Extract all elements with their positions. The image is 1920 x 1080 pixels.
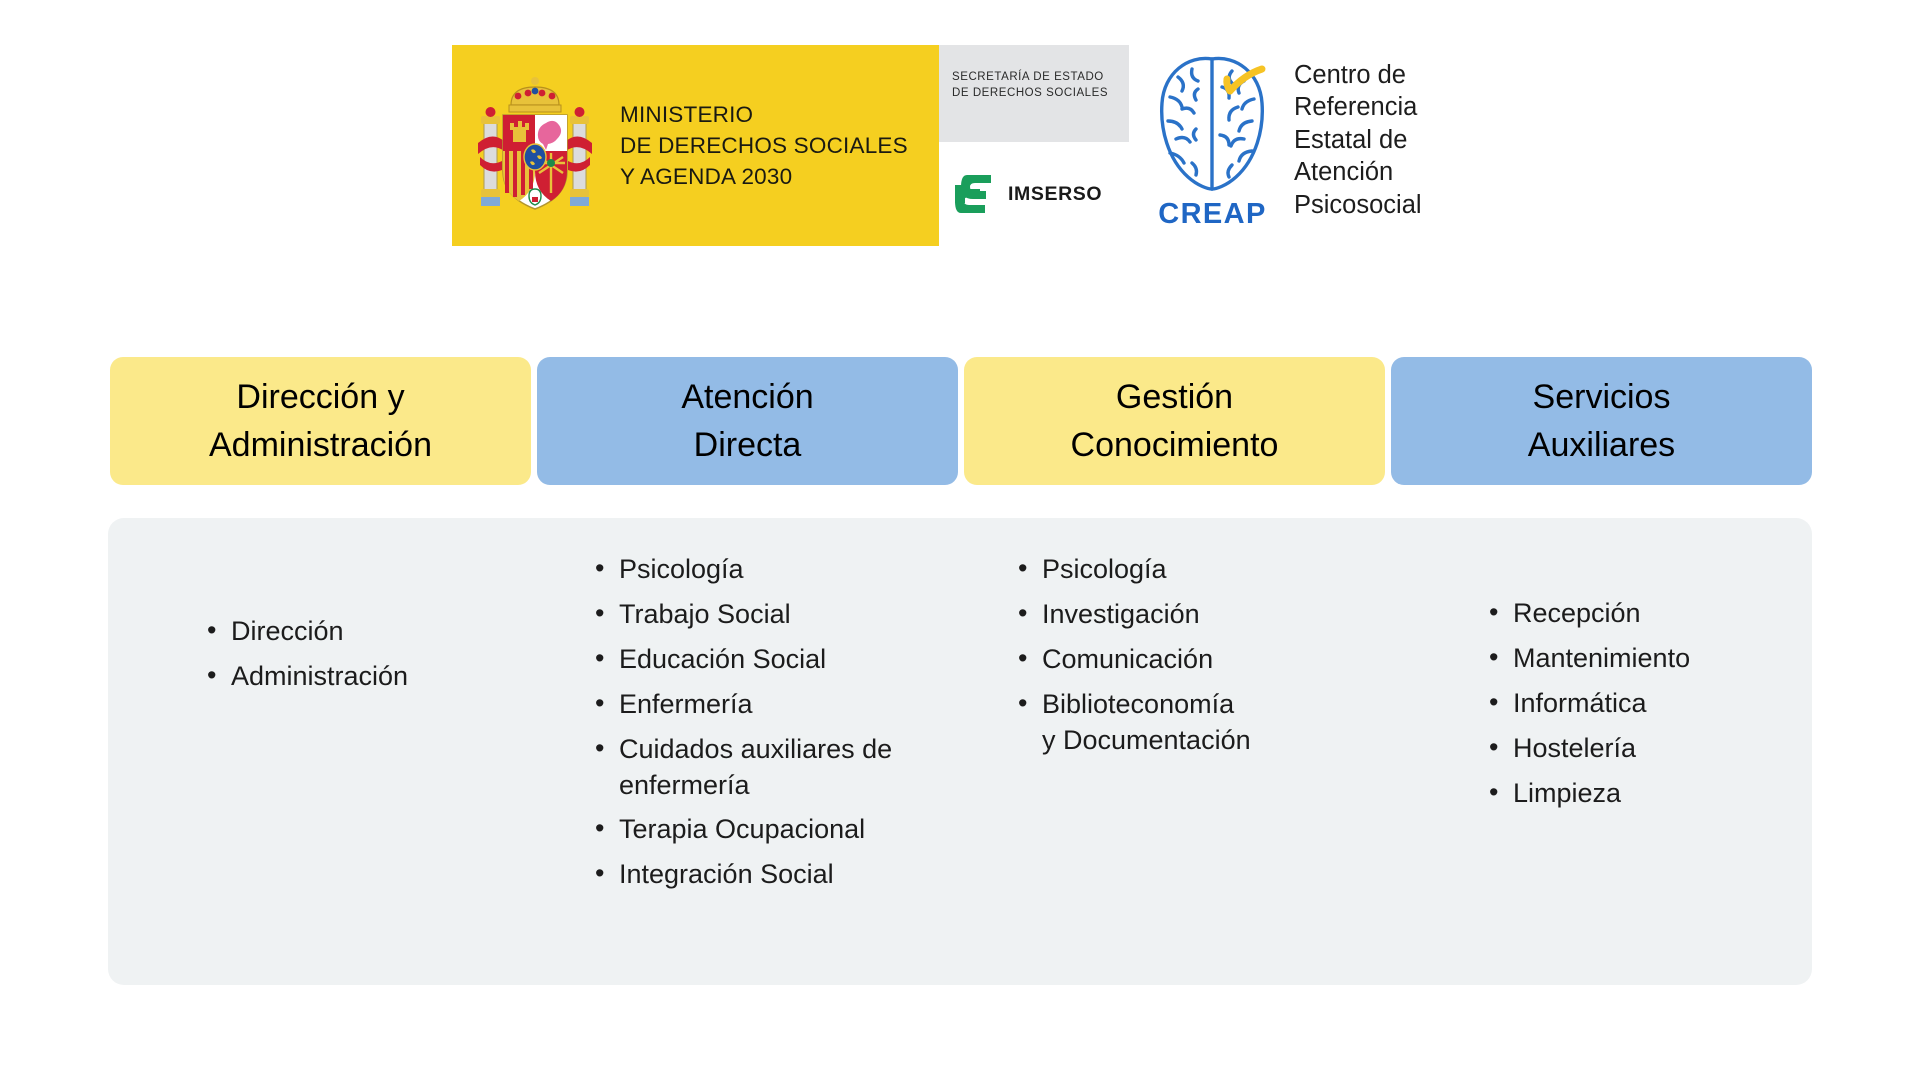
category-label-line-1: Gestión bbox=[1116, 373, 1233, 421]
list-item: Cuidados auxiliares de enfermería bbox=[592, 732, 892, 804]
category-header-row: Dirección y Administración Atención Dire… bbox=[110, 357, 1812, 485]
creap-brain-icon bbox=[1148, 47, 1278, 202]
spain-coat-of-arms-icon bbox=[476, 71, 594, 221]
category-box-direccion-administracion[interactable]: Dirección y Administración bbox=[110, 357, 531, 485]
column-gestion-conocimiento: Psicología Investigación Comunicación Bi… bbox=[960, 518, 1386, 985]
imserso-logo-icon bbox=[953, 173, 999, 215]
institutional-logo-strip: MINISTERIO DE DERECHOS SOCIALES Y AGENDA… bbox=[452, 45, 1422, 246]
creap-name-line-5: Psicosocial bbox=[1294, 189, 1422, 221]
category-label-line-1: Dirección y bbox=[236, 373, 404, 421]
slide-canvas: MINISTERIO DE DERECHOS SOCIALES Y AGENDA… bbox=[0, 0, 1920, 1080]
list-item: Psicología bbox=[592, 552, 892, 588]
creap-name-line-2: Referencia bbox=[1294, 91, 1422, 123]
secretaria-imserso-block: SECRETARÍA DE ESTADO DE DERECHOS SOCIALE… bbox=[939, 45, 1129, 246]
secretaria-line-1: SECRETARÍA DE ESTADO bbox=[952, 69, 1129, 85]
secretaria-line-2: DE DERECHOS SOCIALES bbox=[952, 85, 1129, 101]
list-item: Administración bbox=[204, 659, 408, 695]
column-direccion-administracion: Dirección Administración bbox=[108, 518, 534, 985]
category-label-line-2: Conocimiento bbox=[1071, 421, 1279, 469]
column-atencion-directa: Psicología Trabajo Social Educación Soci… bbox=[534, 518, 960, 985]
category-label-line-1: Servicios bbox=[1533, 373, 1671, 421]
secretaria-de-estado: SECRETARÍA DE ESTADO DE DERECHOS SOCIALE… bbox=[939, 45, 1129, 142]
ministry-line-2: DE DERECHOS SOCIALES bbox=[620, 130, 908, 161]
list-item: Terapia Ocupacional bbox=[592, 812, 892, 848]
list-direccion-administracion: Dirección Administración bbox=[204, 614, 408, 704]
list-item: Informática bbox=[1486, 686, 1690, 722]
list-item: Integración Social bbox=[592, 857, 892, 893]
creap-block: CREAP Centro de Referencia Estatal de At… bbox=[1129, 45, 1422, 246]
imserso-label: IMSERSO bbox=[1008, 183, 1102, 206]
ministry-line-1: MINISTERIO bbox=[620, 99, 908, 130]
list-item: Mantenimiento bbox=[1486, 641, 1690, 677]
list-item: Recepción bbox=[1486, 596, 1690, 632]
creap-name-line-3: Estatal de bbox=[1294, 124, 1422, 156]
list-item: Educación Social bbox=[592, 642, 892, 678]
category-box-servicios-auxiliares[interactable]: Servicios Auxiliares bbox=[1391, 357, 1812, 485]
category-box-atencion-directa[interactable]: Atención Directa bbox=[537, 357, 958, 485]
list-item: Trabajo Social bbox=[592, 597, 892, 633]
category-label-line-2: Administración bbox=[209, 421, 432, 469]
list-item: Psicología bbox=[1015, 552, 1251, 588]
category-box-gestion-conocimiento[interactable]: Gestión Conocimiento bbox=[964, 357, 1385, 485]
creap-logo: CREAP bbox=[1146, 45, 1279, 231]
creap-acronym: CREAP bbox=[1158, 198, 1267, 231]
creap-full-name: Centro de Referencia Estatal de Atención… bbox=[1294, 45, 1422, 221]
category-label-line-2: Auxiliares bbox=[1528, 421, 1675, 469]
list-item: Enfermería bbox=[592, 687, 892, 723]
list-gestion-conocimiento: Psicología Investigación Comunicación Bi… bbox=[1015, 552, 1251, 768]
imserso-block: IMSERSO bbox=[939, 142, 1129, 246]
category-label-line-1: Atención bbox=[681, 373, 813, 421]
ministry-name: MINISTERIO DE DERECHOS SOCIALES Y AGENDA… bbox=[620, 99, 908, 193]
list-item: Hostelería bbox=[1486, 731, 1690, 767]
creap-name-line-4: Atención bbox=[1294, 156, 1422, 188]
category-label-line-2: Directa bbox=[694, 421, 802, 469]
list-servicios-auxiliares: Recepción Mantenimiento Informática Host… bbox=[1486, 596, 1690, 821]
list-atencion-directa: Psicología Trabajo Social Educación Soci… bbox=[592, 552, 892, 902]
list-item: Comunicación bbox=[1015, 642, 1251, 678]
column-servicios-auxiliares: Recepción Mantenimiento Informática Host… bbox=[1386, 518, 1812, 985]
content-panel: Dirección Administración Psicología Trab… bbox=[108, 518, 1812, 985]
list-item: Dirección bbox=[204, 614, 408, 650]
list-item: Biblioteconomía y Documentación bbox=[1015, 687, 1251, 759]
list-item: Investigación bbox=[1015, 597, 1251, 633]
creap-name-line-1: Centro de bbox=[1294, 59, 1422, 91]
list-item: Limpieza bbox=[1486, 776, 1690, 812]
ministry-band: MINISTERIO DE DERECHOS SOCIALES Y AGENDA… bbox=[452, 45, 939, 246]
ministry-line-3: Y AGENDA 2030 bbox=[620, 161, 908, 192]
